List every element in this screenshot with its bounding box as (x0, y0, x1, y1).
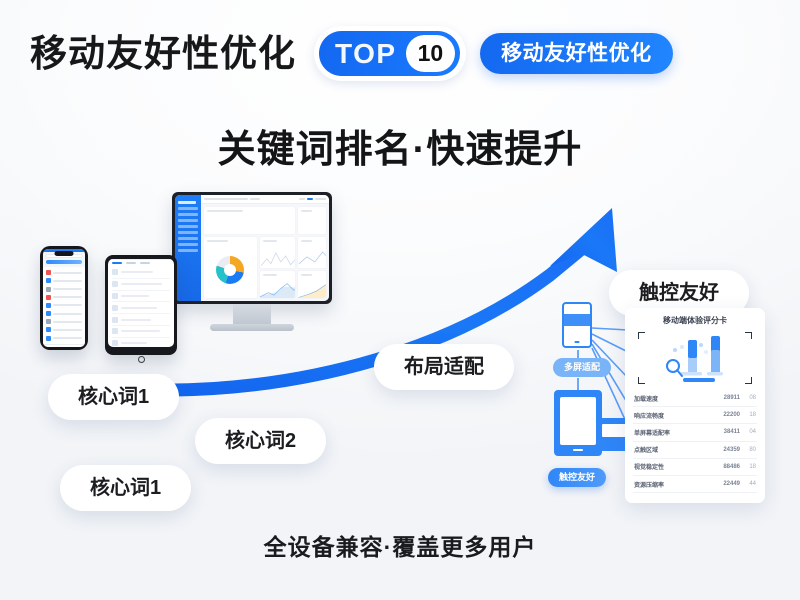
phone-notch (55, 251, 74, 256)
header-tag-pill[interactable]: 移动友好性优化 (480, 33, 673, 74)
phone-screen (43, 249, 85, 347)
table-row: 响应流畅度 22200 18 (633, 407, 757, 424)
diagram-tag-touch[interactable]: 触控友好 (548, 468, 606, 487)
phone-banner (46, 260, 82, 264)
row-name: 加载速度 (634, 394, 720, 403)
device-cluster (22, 192, 332, 392)
row-value: 28911 (724, 395, 740, 401)
page-subtitle: 关键词排名·快速提升 (0, 118, 800, 173)
dashboard-main (201, 195, 329, 301)
phone-result-list (43, 267, 85, 345)
row-value: 88486 (723, 464, 740, 470)
top-rank-number: 10 (406, 35, 456, 72)
table-row: 单屏幕适配率 38411 04 (633, 424, 757, 441)
page-title: 移动友好性优化 (30, 35, 296, 72)
row-value: 24359 (723, 447, 740, 453)
score-card-rows: 加载速度 28911 08 响应流畅度 22200 18 单屏幕适配率 3841… (633, 390, 757, 493)
tablet-device (105, 255, 177, 363)
diagram-tag-multiscreen[interactable]: 多屏适配 (553, 358, 611, 377)
desktop-monitor (172, 192, 332, 331)
keyword-pill-2[interactable]: 核心词2 (195, 418, 326, 464)
tablet-screen (108, 259, 174, 347)
tablet-list (108, 266, 174, 347)
small-phone-icon (562, 302, 592, 348)
row-delta: 80 (744, 447, 756, 453)
keyword-pill-3[interactable]: 核心词1 (60, 465, 191, 511)
row-name: 单屏幕适配率 (634, 428, 720, 437)
row-delta: 08 (744, 395, 756, 401)
mobile-experience-infographic: 多屏适配 触控友好 移动端体验评分卡 (540, 300, 780, 515)
header-row: 移动友好性优化 TOP 10 移动友好性优化 (30, 26, 673, 81)
score-card-illustration (633, 330, 757, 386)
table-row: 加载速度 28911 08 (633, 390, 757, 407)
row-delta: 44 (744, 481, 756, 487)
dashboard-cards (201, 204, 329, 301)
poster-canvas: 移动友好性优化 TOP 10 移动友好性优化 关键词排名·快速提升 (0, 0, 800, 600)
tablet-body (105, 255, 177, 355)
row-value: 22449 (723, 481, 740, 487)
dashboard-screen (175, 195, 329, 301)
row-delta: 18 (744, 464, 756, 470)
keyword-pill-layout-adapt[interactable]: 布局适配 (374, 344, 514, 390)
monitor-stand (233, 304, 271, 324)
table-row: 视觉稳定性 88486 18 (633, 459, 757, 476)
footer-caption: 全设备兼容·覆盖更多用户 (0, 528, 800, 562)
monitor-screen (172, 192, 332, 304)
dashboard-topbar (201, 195, 329, 204)
score-card: 移动端体验评分卡 (625, 308, 765, 503)
row-name: 点触区域 (634, 445, 719, 454)
row-name: 响应流畅度 (634, 411, 719, 420)
phone-body (40, 246, 88, 350)
row-value: 22200 (723, 412, 740, 418)
row-delta: 04 (744, 429, 756, 435)
table-row: 资源压缩率 22449 44 (633, 476, 757, 493)
row-delta: 18 (744, 412, 756, 418)
top-rank-badge-inner: TOP 10 (319, 31, 460, 76)
keyword-pill-1[interactable]: 核心词1 (48, 374, 179, 420)
phone-tabbar (43, 344, 85, 347)
row-name: 视觉稳定性 (634, 462, 719, 471)
row-name: 资源压缩率 (634, 480, 719, 489)
tablet-home-button (138, 356, 145, 363)
top-rank-word: TOP (335, 40, 397, 68)
row-value: 38411 (724, 429, 740, 435)
top-rank-badge: TOP 10 (314, 26, 466, 81)
score-card-title: 移动端体验评分卡 (633, 315, 757, 326)
donut-chart (216, 256, 244, 284)
dashboard-sidebar (175, 195, 201, 301)
phone-device (40, 246, 88, 350)
monitor-base (210, 324, 294, 331)
table-row: 点触区域 24359 80 (633, 442, 757, 459)
